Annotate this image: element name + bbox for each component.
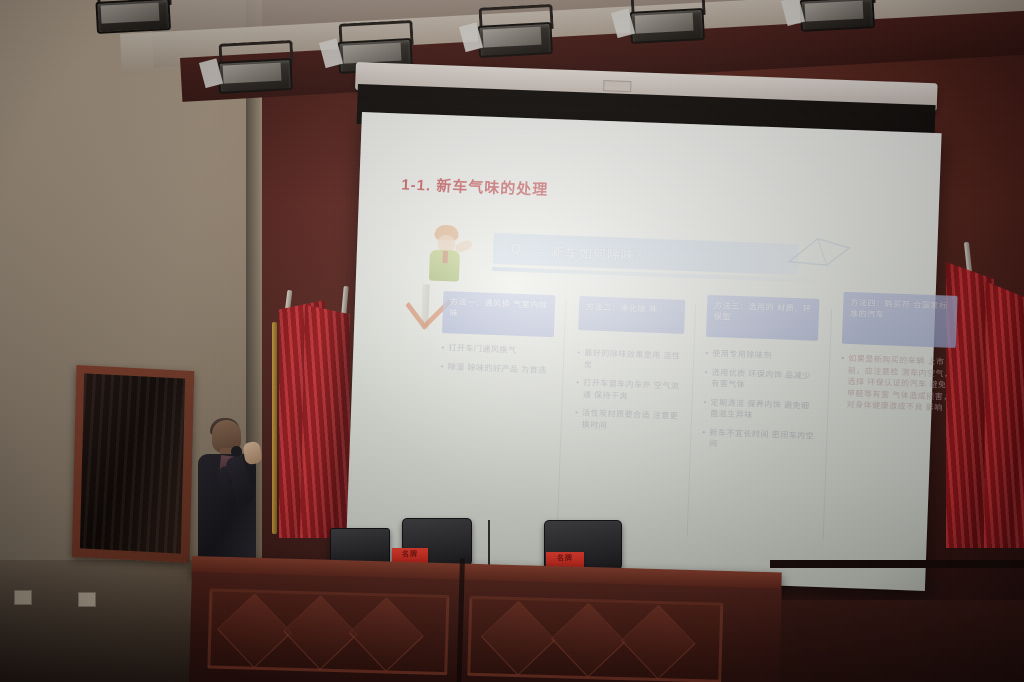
- column-body-1: • 打开车门通风换气 • 除湿 除味的好产品 为首选: [441, 342, 554, 376]
- bullet-text: 定期清洁 保养内饰 避免细菌滋生异味: [710, 396, 816, 423]
- conference-hall-photo: 1-1. 新车气味的处理 Q ：新车如何除味？: [0, 0, 1024, 682]
- banner-decoration-icon: [787, 234, 852, 268]
- framed-window: [72, 365, 195, 563]
- column-header-text: 方法一：通风换 气室内除味: [449, 296, 549, 322]
- bullet-text: 如果是新购买的车辆 上市前，应注意检 测车内空气，选择 环保认证的汽车 避免甲醛…: [846, 353, 955, 414]
- wall-socket: [14, 590, 32, 605]
- presentation-slide: 1-1. 新车气味的处理 Q ：新车如何除味？: [366, 131, 923, 565]
- bullet-text: 使用专用除味剂: [712, 348, 772, 362]
- presenter: [198, 420, 264, 570]
- bullet-item: • 打开车窗车内车外 空气流通 保持干爽: [576, 377, 683, 404]
- bullet-text: 新车不宜长时间 密闭车内空间: [709, 426, 815, 453]
- bullet-item: • 如果是新购买的车辆 上市前，应注意检 测车内空气，选择 环保认证的汽车 避免…: [839, 353, 955, 415]
- stage-edge: [770, 560, 1024, 568]
- slide-title: 1-1. 新车气味的处理: [401, 174, 549, 200]
- stage-light-icon: [629, 0, 703, 44]
- stage-light-icon: [477, 14, 551, 58]
- red-flag: [984, 276, 1024, 548]
- bullet-item: • 选用优质 环保内饰 品减少有害气体: [704, 366, 817, 393]
- question-text: ：新车如何除味？: [537, 242, 650, 265]
- slide-columns: 方法一：通风换 气室内除味 • 打开车门通风换气 • 除湿 除味的好产品 为首选: [434, 291, 913, 558]
- bullet-item: • 最好的除味效果是用 活性炭: [577, 347, 684, 374]
- stage-light-icon: [217, 50, 291, 94]
- bullet-text: 最好的除味效果是用 活性炭: [584, 347, 684, 374]
- bullet-item: • 使用专用除味剂: [705, 348, 817, 364]
- column-header-4: 方法四：购买符 合国家标准的汽车: [842, 292, 958, 348]
- slide-column-3: 方法三：选用的 材质、环保型 • 使用专用除味剂 • 选用优质 环保内饰 品减少…: [702, 301, 820, 460]
- slide-column-2: 方法二：净化除 味 • 最好的除味效果是用 活性炭 • 打开车窗车内车外 空气流…: [574, 296, 685, 441]
- bullet-item: • 除湿 除味的好产品 为首选: [441, 361, 553, 377]
- bullet-text: 打开车门通风换气: [448, 342, 516, 356]
- nameplate-text: 名牌: [546, 552, 584, 566]
- column-body-4: • 如果是新购买的车辆 上市前，应注意检 测车内空气，选择 环保认证的汽车 避免…: [839, 353, 955, 415]
- column-header-3: 方法三：选用的 材质、环保型: [706, 295, 819, 341]
- podium-panel-right: [467, 596, 723, 682]
- roller-center-mark: [603, 80, 631, 92]
- stage-light-icon: [799, 0, 873, 32]
- column-separator: [557, 300, 567, 532]
- red-flag: [300, 300, 350, 538]
- check-mark-icon: [406, 284, 445, 325]
- column-body-2: • 最好的除味效果是用 活性炭 • 打开车窗车内车外 空气流通 保持干爽 • 活…: [574, 347, 683, 434]
- slide-column-4: 方法四：购买符 合国家标准的汽车 • 如果是新购买的车辆 上市前，应注意检 测车…: [839, 306, 957, 422]
- presenter-hand: [242, 441, 262, 465]
- bullet-item: • 新车不宜长时间 密闭车内空间: [702, 426, 815, 453]
- bullet-text: 打开车窗车内车外 空气流通 保持干爽: [583, 377, 683, 404]
- bullet-item: • 打开车门通风换气: [441, 342, 553, 358]
- column-header-1: 方法一：通风换 气室内除味: [442, 291, 555, 337]
- column-body-3: • 使用专用除味剂 • 选用优质 环保内饰 品减少有害气体 • 定期清洁 保养内…: [702, 348, 818, 454]
- flag-pole: [272, 322, 277, 534]
- bullet-text: 活性炭材质要合适 注意更换时间: [581, 407, 681, 434]
- stage-light-icon: [95, 0, 169, 34]
- column-header-text: 方法二：净化除 味: [586, 301, 679, 315]
- column-separator: [823, 309, 833, 541]
- bullet-item: • 定期清洁 保养内饰 避免细菌滋生异味: [703, 396, 816, 423]
- bullet-item: • 活性炭材质要合适 注意更换时间: [574, 407, 681, 434]
- podium-front: [189, 572, 782, 682]
- slide-column-1: 方法一：通风换 气室内除味 • 打开车门通风换气 • 除湿 除味的好产品 为首选: [440, 291, 555, 383]
- bullet-text: 除湿 除味的好产品 为首选: [448, 361, 547, 376]
- column-header-text: 方法四：购买符 合国家标准的汽车: [850, 297, 952, 323]
- wall-socket: [78, 592, 96, 607]
- column-header-text: 方法三：选用的 材质、环保型: [714, 300, 814, 326]
- column-header-2: 方法二：净化除 味: [578, 296, 685, 334]
- nameplate-text: 名牌: [392, 548, 428, 562]
- column-separator: [687, 304, 697, 536]
- cartoon-boy-icon: [424, 224, 470, 282]
- bullet-text: 选用优质 环保内饰 品减少有害气体: [711, 366, 817, 393]
- podium-panel-left: [207, 588, 449, 675]
- question-mark-label: Q: [511, 241, 522, 256]
